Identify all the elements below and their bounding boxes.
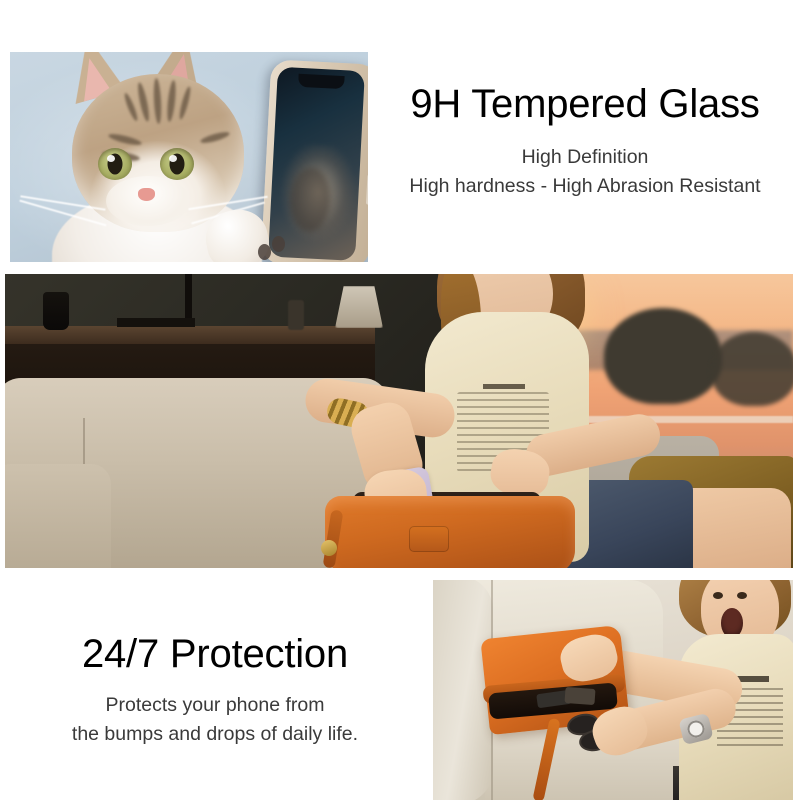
image-panel-phone-into-bag [5, 274, 793, 568]
handbag-zipper-pull [321, 540, 337, 556]
orange-handbag [325, 496, 575, 568]
lamp-base [288, 300, 304, 330]
protection-subline-1: Protects your phone from [10, 691, 420, 720]
tree-silhouette [711, 332, 793, 406]
cat-stripe [166, 80, 177, 123]
cat-nose [138, 188, 155, 201]
cat-muzzle [106, 176, 190, 226]
product-banner: 9H Tempered Glass High Definition High h… [0, 0, 800, 800]
image-panel-bag-spilling [433, 580, 793, 800]
tempered-glass-headline: 9H Tempered Glass [378, 82, 792, 127]
watch-face [686, 719, 707, 740]
cat-stripe [123, 92, 140, 122]
protection-text-block: 24/7 Protection Protects your phone from… [10, 632, 420, 749]
cat-eye-left [98, 148, 132, 180]
spilled-item-case [564, 687, 595, 705]
handbag-front-pocket [409, 526, 449, 552]
woman-eye [737, 592, 747, 599]
phone-notch [298, 74, 345, 89]
image-panel-cat-with-phone [10, 52, 368, 262]
smartphone-graphic [261, 59, 368, 262]
tempered-glass-subline-1: High Definition [378, 143, 792, 172]
tempered-glass-text-block: 9H Tempered Glass High Definition High h… [378, 82, 792, 201]
tank-top-print-title [483, 384, 525, 389]
cat-eye-glint [169, 155, 177, 162]
decor-vase [43, 292, 69, 330]
cat-stripe [153, 78, 162, 124]
tree-silhouette [604, 308, 722, 404]
protection-headline: 24/7 Protection [10, 632, 420, 677]
cat-eye-glint [107, 155, 115, 162]
tempered-glass-subline-2: High hardness - High Abrasion Resistant [378, 172, 792, 201]
cat-stripe [178, 86, 193, 120]
phone-screen [268, 67, 365, 261]
cat-toe [258, 244, 271, 260]
woman-eye [713, 592, 723, 599]
cat-stripe [200, 130, 231, 145]
cat-stripe [136, 82, 151, 123]
sofa-arm [5, 464, 111, 568]
cat-toe [272, 236, 285, 252]
cat-stripe [108, 132, 143, 147]
protection-subline-2: the bumps and drops of daily life. [10, 720, 420, 749]
decor-books [117, 318, 195, 327]
phone-side-button-down [366, 175, 368, 205]
cat-eye-right [160, 148, 194, 180]
